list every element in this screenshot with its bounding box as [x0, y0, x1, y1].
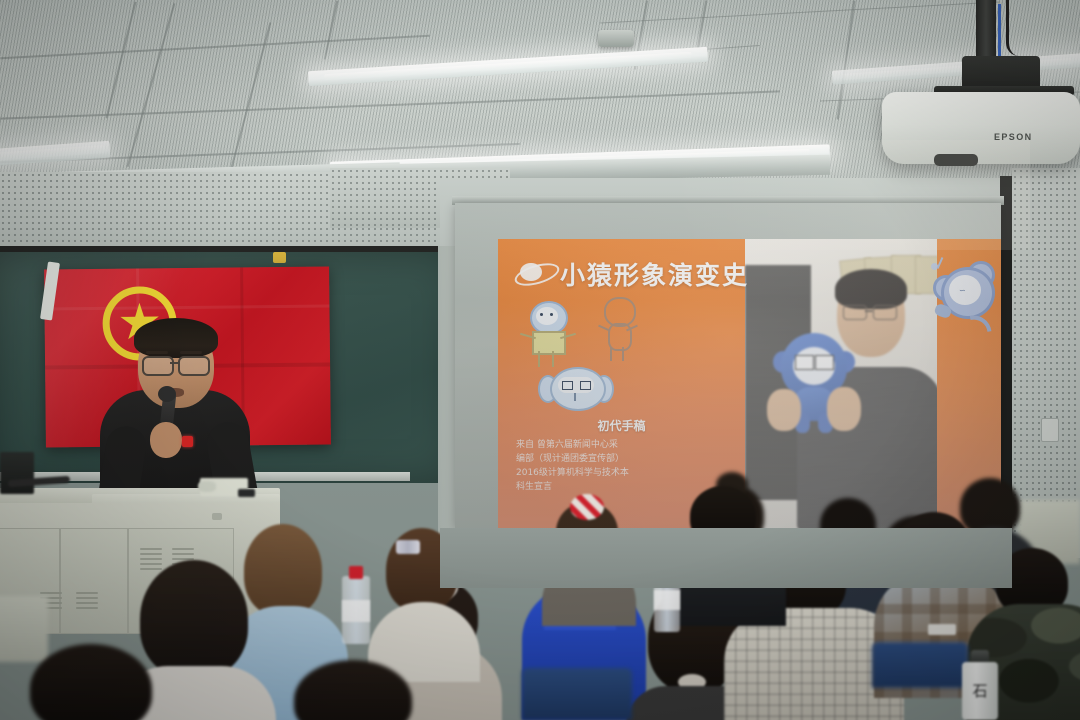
presenter-hand [150, 422, 182, 458]
wall-lower-plain [440, 528, 1012, 588]
projector-body: EPSON [882, 92, 1080, 164]
monkey-doodle-1 [520, 301, 574, 367]
wall-socket-icon [1041, 418, 1059, 442]
presentation-slide: 小猿形象演变史 [498, 239, 1001, 528]
bottle-label [342, 600, 370, 622]
blue-monkey-mascot-icon: ∽ [935, 253, 997, 363]
lecture-hall-scene: 小猿形象演变史 [0, 0, 1080, 720]
monkey-face-doodle-3 [538, 367, 614, 409]
side-desk [0, 596, 48, 662]
podium-vent [140, 548, 162, 572]
presenter-glasses-bridge [170, 362, 178, 364]
mascot-tail [944, 308, 999, 364]
yuanfudao-planet-logo-icon [514, 259, 556, 285]
projector-cable [1006, 0, 1019, 56]
slide-credit-line: 来自 曾第六届新闻中心采 [516, 439, 726, 453]
garment-tag [928, 624, 956, 635]
metal-flask: 石 [962, 650, 998, 720]
chalkboard-clip-icon [273, 252, 286, 263]
water-bottle [342, 566, 370, 644]
projector-lens [934, 154, 978, 166]
podium-vent [76, 592, 98, 614]
presenter-glasses-icon [142, 356, 174, 376]
slide-credit-line: 科生宣言 [516, 481, 726, 495]
desk-mouse[interactable] [198, 481, 216, 492]
chair-back [872, 642, 968, 688]
podium-lock-icon[interactable] [212, 513, 222, 520]
presenter-glasses-icon [178, 356, 210, 376]
slide-credit-line: 2016级计算机科学与技术本 [516, 467, 726, 481]
slide-embedded-photo [745, 239, 937, 528]
bottle-label [654, 590, 680, 610]
presenter-brow [180, 351, 202, 354]
projector-brand-label: EPSON [994, 132, 1033, 142]
desk-phone [238, 489, 255, 497]
slide-credit-line: 编部（现计通团委宣传部） [516, 453, 726, 467]
podium-door-panel[interactable] [60, 528, 128, 634]
desk-monitor [0, 452, 34, 494]
slide-credit-block: 来自 曾第六届新闻中心采 编部（现计通团委宣传部） 2016级计算机科学与技术本… [516, 439, 726, 495]
hair-clip-icon [396, 540, 420, 554]
chair-back [522, 668, 632, 720]
slide-title: 小猿形象演变史 [560, 256, 749, 292]
hair-scrunchie [570, 494, 604, 520]
monkey-doodle-2 [596, 297, 640, 363]
microphone-capsule [158, 386, 176, 402]
presenter-brow [146, 351, 168, 354]
chalkboard-top-rail [0, 246, 455, 252]
smoke-detector-icon [598, 30, 634, 47]
projector-mount-pole [976, 0, 996, 60]
bottle-cap [349, 566, 363, 579]
lapel-pin-badge [182, 436, 193, 447]
slide-caption: 初代手稿 [498, 417, 873, 434]
flask-label: 石 [962, 680, 998, 701]
